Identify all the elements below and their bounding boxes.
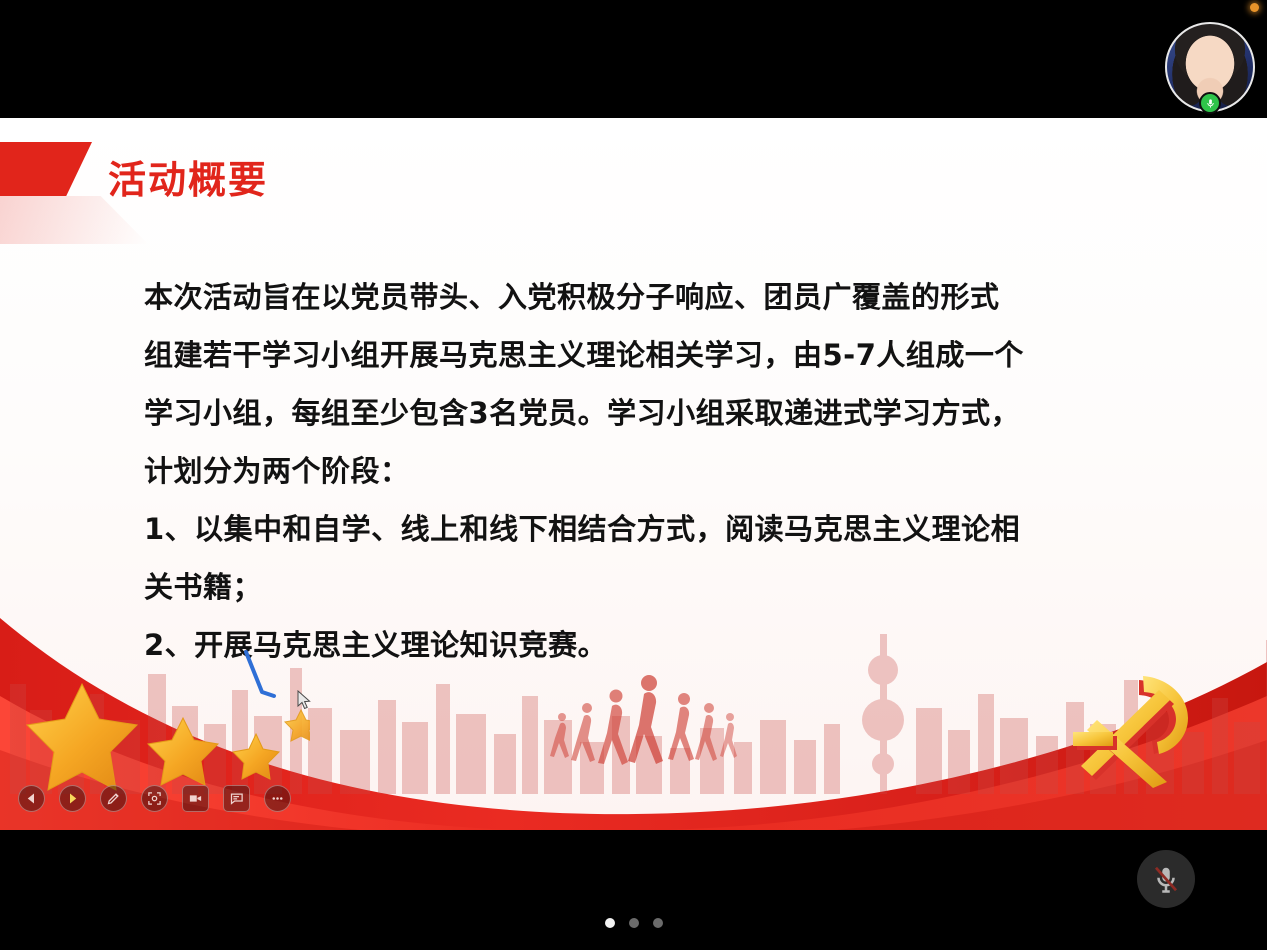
recording-dot-icon [1250,3,1259,12]
body-line: 学习小组，每组至少包含3名党员。学习小组采取递进式学习方式， [144,384,1104,442]
body-line: 本次活动旨在以党员带头、入党积极分子响应、团员广覆盖的形式 [144,268,1104,326]
video-camera-icon[interactable] [182,785,209,812]
play-slide-icon[interactable] [59,785,86,812]
slide-title: 活动概要 [108,149,268,204]
microphone-muted-icon[interactable] [1137,850,1195,908]
body-line: 计划分为两个阶段： [144,442,1104,500]
pen-annotate-icon[interactable] [100,785,127,812]
mouse-cursor [297,690,313,710]
slide-canvas[interactable]: 活动概要 [0,118,1267,830]
body-line: 组建若干学习小组开展马克思主义理论相关学习，由5-7人组成一个 [144,326,1104,384]
page-indicator-dots[interactable] [605,918,663,928]
title-accent-shape [0,142,92,196]
blue-ink-annotation-stroke [240,648,280,708]
body-line: 1、以集中和自学、线上和线下相结合方式，阅读马克思主义理论相 [144,500,1104,558]
cpc-party-emblem-icon [1059,668,1209,798]
previous-slide-icon[interactable] [18,785,45,812]
meeting-presentation-window: 蔡笑晗 活动概要 [0,0,1267,950]
chat-bubble-icon[interactable] [223,785,250,812]
slide-toolbar[interactable] [18,785,291,812]
more-options-icon[interactable] [264,785,291,812]
laser-focus-icon[interactable] [141,785,168,812]
page-dot[interactable] [629,918,639,928]
running-people-silhouette [540,672,740,782]
presenter-video-tile[interactable] [1165,22,1255,112]
page-dot[interactable] [605,918,615,928]
microphone-on-icon [1199,92,1221,114]
page-dot[interactable] [653,918,663,928]
body-line: 关书籍； [144,558,1104,616]
body-line: 2、开展马克思主义理论知识竞赛。 [144,616,1104,674]
slide-body-text: 本次活动旨在以党员带头、入党积极分子响应、团员广覆盖的形式 组建若干学习小组开展… [144,268,1104,674]
